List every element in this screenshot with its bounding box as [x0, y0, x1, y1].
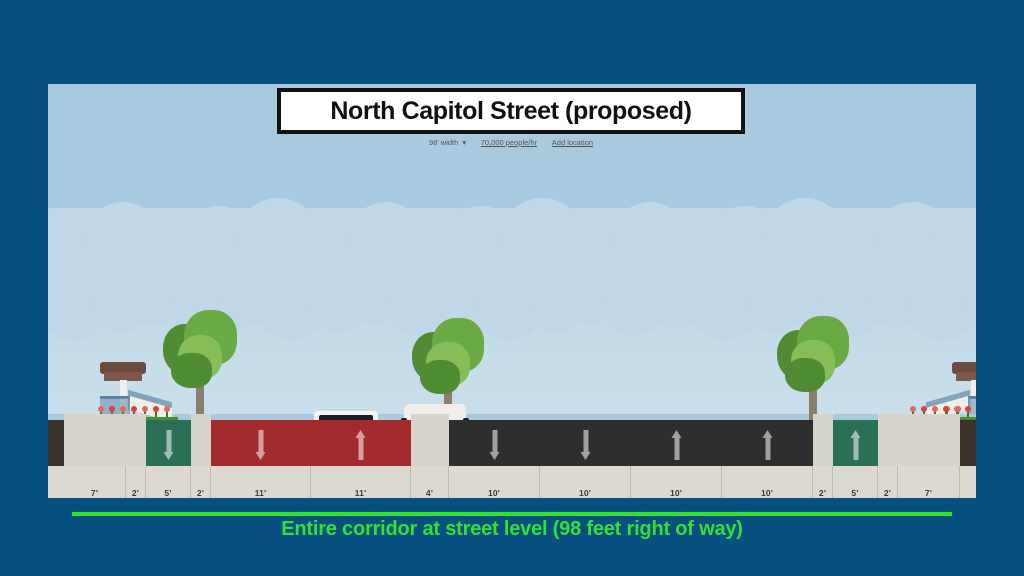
street-segment-planting-strip: [960, 420, 976, 466]
street-segment-asphalt[interactable]: [631, 420, 722, 466]
segment-width: 10': [449, 488, 539, 498]
lane-direction-arrow-down: [163, 430, 174, 460]
street-segment-sidewalk[interactable]: [64, 414, 126, 466]
segment-label-bar: 7'Sidewalk15,000 peopl...2'Si...5'Bike l…: [48, 466, 976, 498]
lane-direction-arrow-up: [850, 430, 861, 460]
segment-label[interactable]: 10'Drive lane1,500 people/hr: [631, 466, 722, 498]
cloud-band-upper: [48, 180, 976, 240]
street-title: North Capitol Street (proposed): [330, 97, 691, 126]
lane-direction-arrow-up: [671, 430, 682, 460]
scroll-left-chevron-icon[interactable]: [104, 492, 144, 498]
slide-caption: Entire corridor at street level (98 feet…: [0, 518, 1024, 541]
street-segment-sidewalk[interactable]: [411, 414, 449, 466]
segment-width: 10': [722, 488, 812, 498]
street-segment-sidewalk[interactable]: [813, 414, 833, 466]
street-segment-bike[interactable]: [146, 420, 191, 466]
street-segment-asphalt[interactable]: [722, 420, 813, 466]
cloud-band-lower: [48, 234, 976, 304]
lane-direction-arrow-down: [256, 430, 267, 460]
segment-label[interactable]: 5'Bike lane12,000 p...: [146, 466, 191, 498]
lane-direction-arrow-up: [762, 430, 773, 460]
segment-label[interactable]: 4'Sidew...: [411, 466, 449, 498]
segment-label[interactable]: 10'Drive lane1,500 people/hr: [449, 466, 540, 498]
street-segment-bus[interactable]: [311, 420, 411, 466]
lane-direction-arrow-down: [489, 430, 500, 460]
segment-width: 5': [833, 488, 877, 498]
segment-width: 11': [311, 488, 410, 498]
segment-label[interactable]: 5'Electric ...12,000 p...: [833, 466, 878, 498]
street-segment-planting-strip: [48, 420, 64, 466]
street-segment-sidewalk[interactable]: [191, 414, 211, 466]
street-segment-bike[interactable]: [833, 420, 878, 466]
street-segment-asphalt[interactable]: [540, 420, 631, 466]
slide-root: 7'Sidewalk15,000 peopl...2'Si...5'Bike l…: [0, 0, 1024, 576]
segment-width: 10': [540, 488, 630, 498]
segment-width: 2': [813, 488, 832, 498]
caption-rule: [72, 512, 952, 516]
segment-width: 4': [411, 488, 448, 498]
segment-label[interactable]: 2'Pl...: [813, 466, 833, 498]
segment-label[interactable]: 11'Bus lane5,000 people/hr: [311, 466, 411, 498]
label-bar-right-pad: [960, 466, 976, 498]
segment-label[interactable]: 11'Bus lane5,000 people/hr: [211, 466, 311, 498]
segment-width: 11': [211, 488, 310, 498]
street-segment-sidewalk[interactable]: [898, 414, 960, 466]
street-width-caret-icon[interactable]: ▾: [462, 138, 466, 147]
scroll-right-chevron-icon[interactable]: [886, 492, 926, 498]
street-width-label[interactable]: 98' width: [429, 138, 458, 147]
street-segment-sidewalk[interactable]: [126, 414, 146, 466]
segment-width: 5': [146, 488, 190, 498]
lane-direction-arrow-up: [356, 430, 367, 460]
street-segment-sidewalk[interactable]: [878, 414, 898, 466]
street-meta-line: 98' width▾ · 70,000 people/hr · Add loca…: [277, 138, 745, 147]
meta-separator-2: ·: [543, 138, 546, 147]
segment-width: 10': [631, 488, 721, 498]
segment-label[interactable]: 10'Drive lane1,500 people/hr: [540, 466, 631, 498]
street-title-box[interactable]: North Capitol Street (proposed): [277, 88, 745, 134]
segment-label[interactable]: 10'Drive lane1,500 people/hr: [722, 466, 813, 498]
add-location-link[interactable]: Add location: [552, 138, 593, 147]
segment-label[interactable]: 2'Pl...: [191, 466, 211, 498]
label-bar-left-pad: [48, 466, 64, 498]
street-capacity[interactable]: 70,000 people/hr: [481, 138, 537, 147]
street-segment-bus[interactable]: [211, 420, 311, 466]
segment-width: 2': [191, 488, 210, 498]
meta-separator-1: ·: [472, 138, 475, 147]
street-segment-asphalt[interactable]: [449, 420, 540, 466]
lane-direction-arrow-down: [580, 430, 591, 460]
